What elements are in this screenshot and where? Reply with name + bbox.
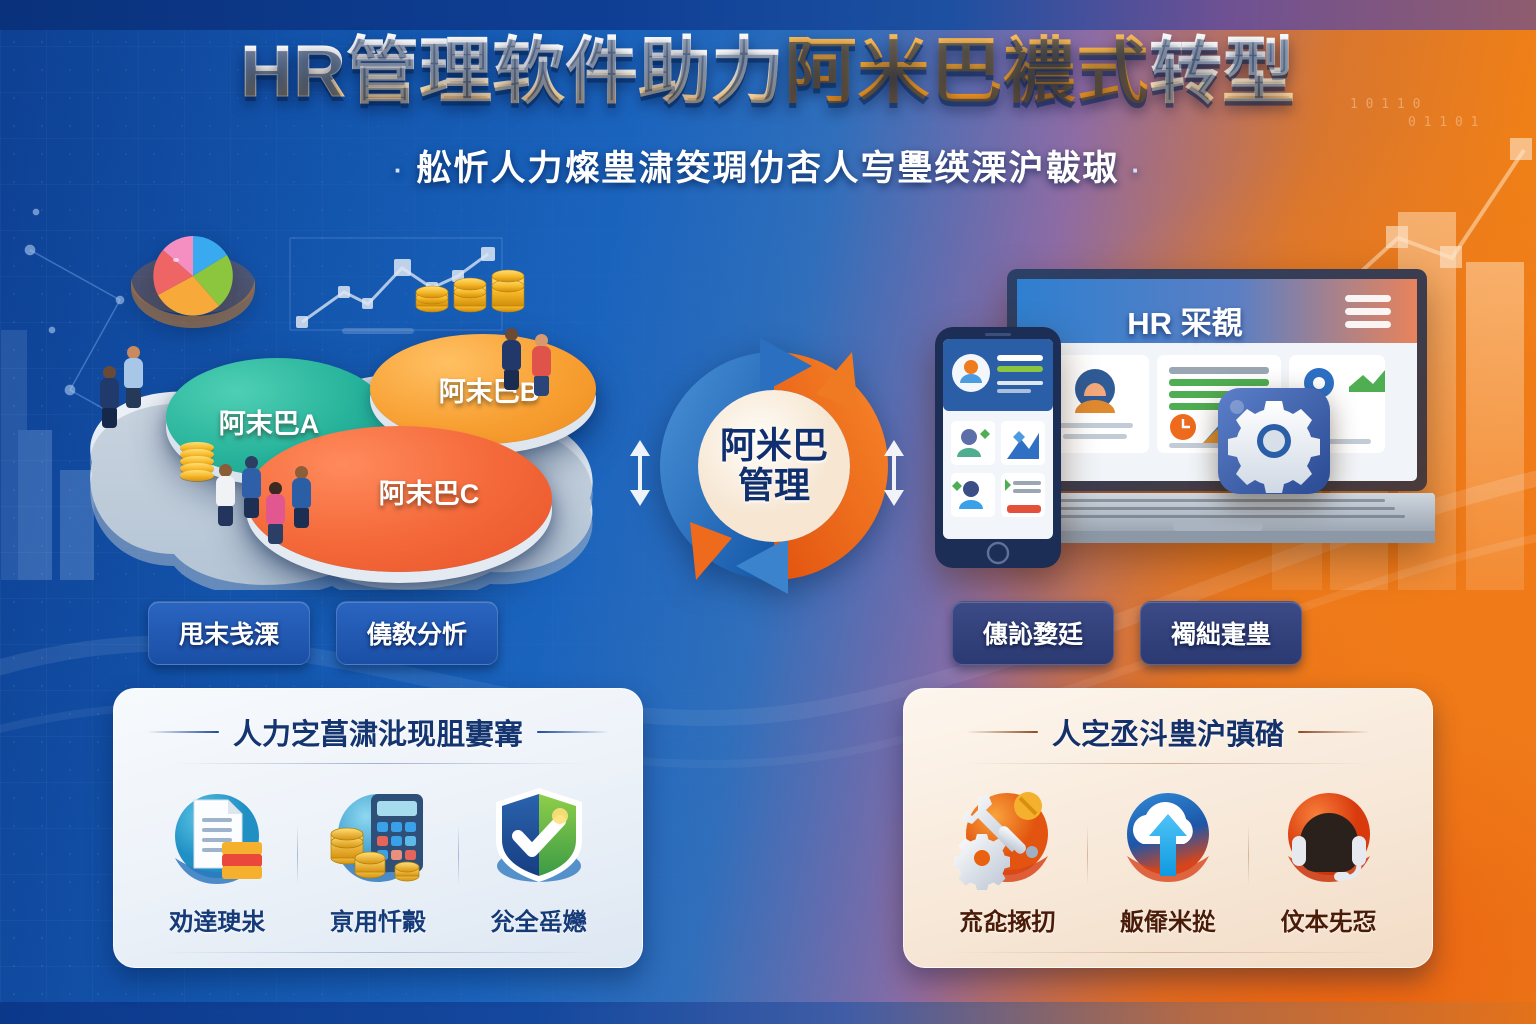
calculator-coins-icon <box>319 780 437 892</box>
feature-item[interactable]: 舨㒎米㧿 <box>1093 774 1243 937</box>
card-left-title: 人力㝎菖㴋沘现䏣寠㝤 <box>233 711 523 753</box>
up-down-arrow-icon <box>628 440 652 506</box>
cloud-upload-icon <box>1109 780 1227 892</box>
background-bottom-band <box>0 1002 1536 1024</box>
hamburger-menu-icon <box>1345 295 1391 328</box>
feature-divider <box>458 825 459 885</box>
card-hr-service: 人㝎丞㳆㻃沪㣀䂿 <box>903 688 1433 968</box>
left-pill-row: 甩末戋溧 僥敎分忻 <box>148 601 498 665</box>
header-rule-right <box>537 731 609 733</box>
poster-title: HR管理软件助力阿米巴襛式转型 <box>0 36 1536 108</box>
subtitle-right-dot: · <box>1120 155 1155 185</box>
feature-icon-wrap <box>932 774 1082 892</box>
person-figure <box>242 456 261 518</box>
title-part-3: 转型 <box>1150 32 1296 112</box>
person-figure <box>216 464 235 526</box>
feature-item[interactable]: 伩本兂㤍 <box>1254 774 1404 937</box>
feature-item[interactable]: 兊全䍃㜻 <box>464 774 614 937</box>
device-mockups: HR 冞覩 <box>925 255 1455 605</box>
feature-label: 伩本兂㤍 <box>1254 902 1404 937</box>
feature-label: 兊全䍃㜻 <box>464 902 614 937</box>
feature-icon-wrap <box>1254 774 1404 892</box>
cycle-line-2: 管理 <box>640 466 908 506</box>
feature-divider <box>297 825 298 885</box>
document-contract-icon <box>158 780 276 892</box>
feature-label: 㐬㖋㧻㧅 <box>932 902 1082 937</box>
card-right-features: 㐬㖋㧻㧅 <box>922 764 1414 946</box>
person-figure <box>100 366 119 428</box>
header-rule-left <box>966 731 1038 733</box>
person-figure <box>124 346 143 408</box>
feature-label: 亰用忏㲉 <box>303 902 453 937</box>
card-left-header: 人力㝎菖㴋沘现䏣寠㝤 <box>132 711 624 753</box>
person-figure <box>532 334 551 396</box>
card-right-footer-rule <box>948 952 1388 953</box>
wrench-gear-icon <box>948 780 1066 892</box>
shield-check-icon <box>480 780 598 892</box>
pill-right-1[interactable]: 僡訫㜈廷 <box>952 601 1114 665</box>
coin-stacks-icon <box>410 248 530 318</box>
headset-icon <box>1270 780 1388 892</box>
amoeba-blob-a-label: 阿末巴A <box>219 402 320 441</box>
feature-divider <box>1248 825 1249 885</box>
card-hr-management: 人力㝎菖㴋沘现䏣寠㝤 <box>113 688 643 968</box>
person-figure <box>502 328 521 390</box>
cycle-center-label: 阿米巴 管理 <box>640 426 908 507</box>
feature-item[interactable]: 亰用忏㲉 <box>303 774 453 937</box>
card-left-footer-rule <box>158 952 598 953</box>
right-pill-row: 僡訫㜈廷 襡絀寁㻃 <box>952 601 1302 665</box>
up-down-arrow-icon <box>882 440 906 506</box>
feature-icon-wrap <box>142 774 292 892</box>
card-right-title: 人㝎丞㳆㻃沪㣀䂿 <box>1052 711 1284 753</box>
infographic-poster: 1 0 1 1 0 0 1 1 0 1 HR管理软件助力阿米巴襛式转型 ·舩忻人… <box>0 0 1536 1024</box>
amoeba-blob-b-label: 阿末巴B <box>439 370 540 409</box>
feature-divider <box>1087 825 1088 885</box>
pill-left-1[interactable]: 甩末戋溧 <box>148 601 310 665</box>
title-part-1: HR管理软件助力 <box>240 32 784 112</box>
pill-right-2[interactable]: 襡絀寁㻃 <box>1140 601 1302 665</box>
background-top-band <box>0 0 1536 30</box>
feature-item[interactable]: 㐬㖋㧻㧅 <box>932 774 1082 937</box>
pill-left-2[interactable]: 僥敎分忻 <box>336 601 498 665</box>
cycle-line-1: 阿米巴 <box>640 426 908 466</box>
user-gear-icon <box>952 354 990 392</box>
subtitle-left-dot: · <box>382 155 417 185</box>
card-right-header: 人㝎丞㳆㻃沪㣀䂿 <box>922 711 1414 753</box>
subtitle-text: 舩忻人力燦㻃㴋筊琱仂㕻人㝍璺绬溧沪韍琡 <box>416 149 1119 188</box>
pie-chart-icon <box>118 218 268 328</box>
amoeba-cluster: 阿末巴A 阿末巴B 阿末巴C <box>70 330 640 600</box>
feature-icon-wrap <box>303 774 453 892</box>
person-figure <box>292 466 311 528</box>
header-rule-left <box>147 731 219 733</box>
feature-icon-wrap <box>464 774 614 892</box>
laptop-screen-title: HR 冞覩 <box>1065 298 1305 343</box>
poster-subtitle: ·舩忻人力燦㻃㴋筊琱仂㕻人㝍璺绬溧沪韍琡· <box>0 140 1536 191</box>
person-figure <box>266 482 285 544</box>
title-part-2: 阿米巴襛式 <box>784 32 1149 112</box>
header-rule-right <box>1298 731 1370 733</box>
feature-label: 舨㒎米㧿 <box>1093 902 1243 937</box>
gear-icon[interactable] <box>1215 385 1333 497</box>
feature-label: 劝逹㻀汖 <box>142 902 292 937</box>
amoeba-blob-c-label: 阿末巴C <box>379 472 480 511</box>
phone-mockup <box>933 325 1063 570</box>
amoeba-cycle-diagram: 阿米巴 管理 <box>640 332 908 600</box>
coin-stack-icon <box>180 446 214 481</box>
feature-icon-wrap <box>1093 774 1243 892</box>
card-left-features: 劝逹㻀汖 <box>132 764 624 946</box>
feature-item[interactable]: 劝逹㻀汖 <box>142 774 292 937</box>
